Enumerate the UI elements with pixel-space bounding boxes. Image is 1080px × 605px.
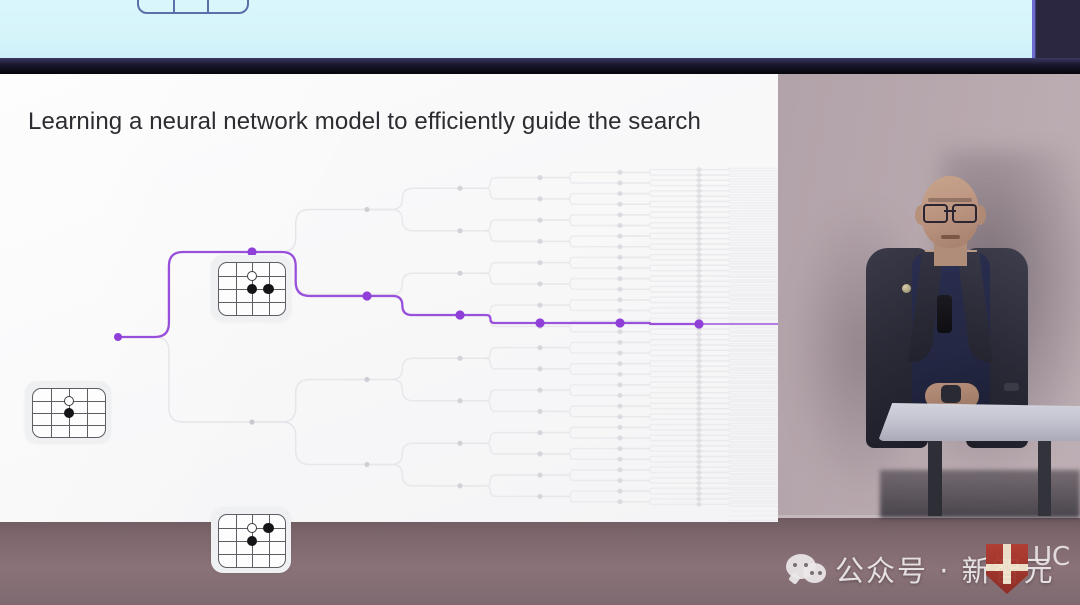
tree-branch [460, 443, 540, 454]
tree-branch [460, 475, 540, 486]
tree-branch [540, 496, 620, 501]
tree-node [537, 260, 542, 265]
tree-branch [699, 186, 778, 187]
tree-branch [699, 462, 778, 463]
tree-branch [699, 499, 778, 500]
go-stone-black [263, 284, 274, 295]
podium-table [878, 403, 1080, 441]
tree-node [696, 422, 701, 427]
tree-branch [540, 342, 620, 347]
tree-node [455, 310, 464, 319]
lapel-mic-icon [937, 295, 952, 333]
tree-branch [367, 210, 460, 231]
tree-node [364, 207, 369, 212]
tree-node [362, 291, 371, 300]
tree-node [696, 268, 701, 273]
tree-node [696, 252, 701, 257]
tree-branch [540, 263, 620, 268]
tree-node [696, 188, 701, 193]
tree-branch [699, 366, 778, 367]
tree-node [617, 403, 622, 408]
tree-branch [699, 292, 778, 293]
tree-branch [620, 279, 699, 282]
tree-branch [699, 318, 778, 319]
tree-branch [460, 390, 540, 401]
tree-node [617, 382, 622, 387]
tree-branch [367, 358, 460, 379]
tree-branch [620, 236, 699, 239]
glasses-icon [923, 204, 977, 219]
tree-branch [620, 194, 699, 197]
tree-branch [699, 244, 778, 245]
tree-branch [620, 204, 699, 207]
tree-node [696, 475, 701, 480]
tree-node [249, 419, 254, 424]
go-stone-black [247, 284, 258, 295]
tree-node [617, 308, 622, 313]
tree-branch [699, 425, 778, 426]
tree-node [696, 183, 701, 188]
tree-node [696, 305, 701, 310]
tree-branch [540, 433, 620, 438]
tree-branch [620, 395, 699, 398]
tree-node [537, 175, 542, 180]
tree-branch [699, 255, 778, 256]
tree-node [696, 369, 701, 374]
tree-branch [620, 215, 699, 218]
tree-node [617, 265, 622, 270]
tree-node [696, 353, 701, 358]
tree-node [696, 496, 701, 501]
tree-branch [699, 472, 778, 473]
tree-node [537, 451, 542, 456]
tree-branch [367, 380, 460, 401]
watermark-uc-mark: UC [1033, 546, 1070, 569]
go-board-root [25, 381, 111, 443]
tree-branch [699, 302, 778, 303]
go-stone-white [247, 523, 258, 534]
tree-node [617, 255, 622, 260]
tree-node [696, 417, 701, 422]
tree-node [617, 329, 622, 334]
tree-node [696, 454, 701, 459]
tree-node [617, 180, 622, 185]
tree-node [696, 358, 701, 363]
tree-node [696, 459, 701, 464]
tree-node [537, 388, 542, 393]
tree-node [457, 186, 462, 191]
tree-node [537, 281, 542, 286]
tree-branch [620, 417, 699, 420]
tree-branch [460, 358, 540, 369]
tree-branch [620, 406, 699, 409]
tree-node [617, 446, 622, 451]
tree-branch [699, 217, 778, 218]
tree-node [696, 279, 701, 284]
tree-branch [540, 305, 620, 310]
tree-node [696, 427, 701, 432]
tree-node [696, 486, 701, 491]
tree-branch [699, 504, 778, 505]
tree-branch [252, 380, 367, 423]
tree-node [617, 297, 622, 302]
tree-node [617, 233, 622, 238]
tree-branch [620, 323, 699, 324]
tree-node [696, 470, 701, 475]
tree-node [617, 170, 622, 175]
tree-branch [540, 470, 620, 475]
tree-branch [699, 329, 778, 330]
podium-leg-left [928, 438, 942, 516]
tree-branch [118, 337, 252, 422]
page-title: Learning a neural network model to effic… [28, 108, 701, 136]
tree-node [696, 337, 701, 342]
go-board-grid [32, 388, 106, 438]
tree-node [696, 385, 701, 390]
podium-leg-right [1038, 438, 1051, 516]
tree-node [696, 443, 701, 448]
tree-branch [699, 223, 778, 224]
tree-branch [460, 348, 540, 359]
tree-branch [540, 241, 620, 246]
tree-branch [460, 486, 540, 497]
tree-node [617, 212, 622, 217]
tree-node [696, 342, 701, 347]
tree-branch [620, 353, 699, 356]
tree-branch [620, 247, 699, 250]
tree-node [696, 199, 701, 204]
tree-branch [620, 332, 699, 335]
tree-node [696, 491, 701, 496]
presentation-clicker [941, 385, 961, 403]
tree-node [696, 257, 701, 262]
tree-node [537, 430, 542, 435]
tree-node [696, 401, 701, 406]
tree-node [696, 273, 701, 278]
tree-branch [367, 295, 460, 316]
tree-node [617, 223, 622, 228]
tree-branch [460, 220, 540, 231]
tree-node [457, 398, 462, 403]
go-stone-black [64, 408, 74, 418]
tree-node [617, 350, 622, 355]
tree-node [617, 414, 622, 419]
tree-node [696, 406, 701, 411]
tree-branch [540, 475, 620, 480]
tree-branch [540, 178, 620, 183]
tree-node [696, 194, 701, 199]
tree-node [114, 333, 122, 341]
tree-branch [699, 403, 778, 404]
tree-node [696, 225, 701, 230]
tree-node [617, 372, 622, 377]
tree-branch [367, 188, 460, 209]
go-board-grid [218, 514, 286, 568]
tree-branch [699, 393, 778, 394]
go-board-upper [211, 255, 291, 321]
tree-node [615, 318, 624, 327]
tree-branch [540, 194, 620, 199]
tree-node [694, 319, 703, 328]
tree-branch [620, 470, 699, 473]
tree-node [696, 210, 701, 215]
tree-node [696, 332, 701, 337]
tree-node [617, 457, 622, 462]
tree-node [535, 318, 544, 327]
tree-node [696, 380, 701, 385]
tree-node [696, 247, 701, 252]
tree-node [364, 377, 369, 382]
tree-branch [699, 334, 778, 335]
tree-node [537, 218, 542, 223]
tree-node [617, 435, 622, 440]
tree-branch [620, 225, 699, 228]
tree-branch [620, 183, 699, 186]
tree-branch [540, 326, 620, 331]
tree-branch [699, 228, 778, 229]
tree-branch [699, 435, 778, 436]
previous-slide-grid-icon [137, 0, 249, 14]
tree-node [364, 462, 369, 467]
tree-branch [620, 385, 699, 388]
tree-node [696, 438, 701, 443]
tree-branch [367, 443, 460, 464]
tree-node [537, 409, 542, 414]
tree-branch [620, 480, 699, 483]
tree-node [696, 263, 701, 268]
tree-node [617, 361, 622, 366]
tree-node [696, 300, 701, 305]
tree-branch [699, 239, 778, 240]
tree-branch [699, 430, 778, 431]
tree-branch [620, 459, 699, 462]
tree-node [537, 473, 542, 478]
tree-branch [699, 196, 778, 197]
tree-node [696, 289, 701, 294]
tree-branch [620, 449, 699, 452]
tree-node [696, 204, 701, 209]
tree-node [696, 411, 701, 416]
tree-node [696, 178, 701, 183]
tree-branch [540, 449, 620, 454]
tree-node [696, 374, 701, 379]
tree-branch [460, 433, 540, 444]
tree-branch [540, 491, 620, 496]
tree-branch [620, 427, 699, 430]
tree-branch [699, 202, 778, 203]
tree-node [617, 478, 622, 483]
tree-node [537, 345, 542, 350]
tree-node [696, 167, 701, 172]
tree-branch [540, 390, 620, 395]
tree-branch [540, 364, 620, 369]
tree-branch [699, 212, 778, 213]
tree-node [696, 433, 701, 438]
tree-node [457, 228, 462, 233]
tree-branch [540, 236, 620, 241]
tree-branch [540, 411, 620, 416]
tree-branch [620, 310, 699, 313]
tree-branch [699, 191, 778, 192]
tree-branch [460, 273, 540, 284]
tree-node [696, 395, 701, 400]
tree-branch [540, 279, 620, 284]
tree-branch [540, 215, 620, 220]
tree-branch [620, 342, 699, 345]
tree-branch [540, 257, 620, 262]
tree-branch [460, 401, 540, 412]
screenshot-stage: Learning a neural network model to effic… [0, 0, 1080, 605]
tree-branch [699, 361, 778, 362]
go-stone-black [247, 536, 258, 547]
tree-node [696, 449, 701, 454]
tree-branch [540, 454, 620, 459]
tree-node [537, 239, 542, 244]
tree-node [696, 465, 701, 470]
tree-node [617, 276, 622, 281]
tree-branch [540, 284, 620, 289]
tree-branch [252, 422, 367, 465]
tree-branch [620, 289, 699, 292]
tree-node [457, 483, 462, 488]
tree-branch [620, 502, 699, 505]
tree-branch [699, 207, 778, 208]
tree-branch [620, 172, 699, 175]
tree-branch [699, 175, 778, 176]
tree-branch [699, 170, 778, 171]
tree-branch [620, 257, 699, 260]
tree-node [617, 287, 622, 292]
speaker-mouth [941, 235, 960, 239]
tree-node [696, 310, 701, 315]
tree-node [537, 494, 542, 499]
speaker-brow [928, 198, 972, 202]
go-stone-white [64, 396, 74, 406]
board-line [87, 389, 88, 437]
tree-node [696, 241, 701, 246]
tree-branch [699, 287, 778, 288]
tree-branch [699, 457, 778, 458]
tree-node [696, 231, 701, 236]
tree-node [457, 271, 462, 276]
tree-node [617, 191, 622, 196]
tree-branch [540, 369, 620, 374]
tree-branch [367, 465, 460, 486]
tree-branch [540, 220, 620, 225]
go-board-lower [211, 507, 291, 573]
wechat-icon [786, 554, 826, 585]
tree-node [617, 393, 622, 398]
tree-branch [699, 356, 778, 357]
tree-branch [460, 316, 540, 327]
tree-branch [699, 180, 778, 181]
tree-branch [620, 268, 699, 271]
tree-node [617, 202, 622, 207]
tree-branch [460, 263, 540, 274]
tree-branch [699, 467, 778, 468]
tree-branch [252, 210, 367, 253]
screen-frame-shadow [0, 58, 1080, 74]
board-line [219, 554, 285, 555]
go-board-grid [218, 262, 286, 316]
tree-branch [699, 387, 778, 388]
tree-node [617, 340, 622, 345]
tree-branch [540, 300, 620, 305]
tree-branch [460, 178, 540, 189]
tree-node [537, 303, 542, 308]
go-stone-white [247, 271, 258, 282]
tree-branch [620, 491, 699, 494]
tree-branch [540, 406, 620, 411]
tree-node [617, 467, 622, 472]
tree-branch [699, 233, 778, 234]
tree-branch [460, 231, 540, 242]
tree-node [617, 488, 622, 493]
tree-node [457, 356, 462, 361]
tree-branch [620, 364, 699, 367]
tree-node [696, 236, 701, 241]
tree-branch [540, 172, 620, 177]
tree-branch [620, 438, 699, 441]
tree-branch [699, 265, 778, 266]
tree-node [696, 215, 701, 220]
tree-branch [367, 273, 460, 294]
tree-node [617, 244, 622, 249]
board-line [219, 302, 285, 303]
tree-branch [460, 188, 540, 199]
board-line [33, 425, 105, 426]
tree-node [696, 284, 701, 289]
tree-node [696, 390, 701, 395]
speaker-lapel-pin [902, 284, 911, 293]
search-tree-diagram [0, 74, 778, 522]
tree-node [537, 196, 542, 201]
tree-node [696, 295, 701, 300]
tree-node [537, 366, 542, 371]
tree-branch [699, 494, 778, 495]
tree-branch [367, 296, 460, 315]
go-stone-black [263, 523, 274, 534]
tree-node [617, 425, 622, 430]
tree-branch [540, 385, 620, 390]
tree-branch [540, 427, 620, 432]
tree-node [457, 441, 462, 446]
tree-branch [620, 300, 699, 303]
tree-node [696, 364, 701, 369]
tree-node [696, 348, 701, 353]
tree-branch [540, 199, 620, 204]
tree-node [696, 502, 701, 507]
tree-node [617, 499, 622, 504]
tree-branch [540, 348, 620, 353]
tree-branch [699, 260, 778, 261]
tree-node [696, 220, 701, 225]
speaker-cuff [1004, 383, 1019, 391]
tree-branch [699, 297, 778, 298]
tree-node [696, 480, 701, 485]
tree-branch [699, 398, 778, 399]
tree-branch [620, 374, 699, 377]
tree-node [696, 172, 701, 177]
previous-slide-panel [0, 0, 1035, 62]
